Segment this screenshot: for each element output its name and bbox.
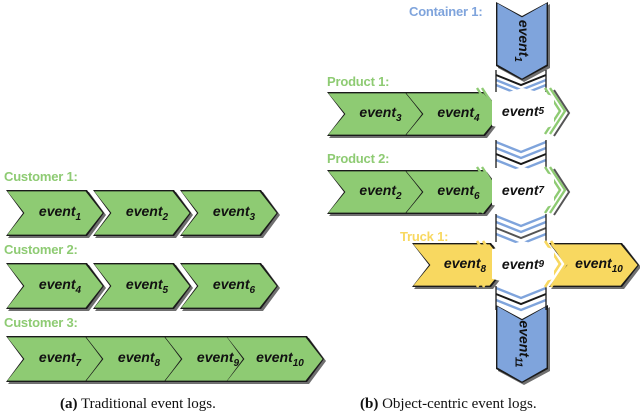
event-label: event5	[492, 88, 554, 134]
event-junction[interactable]: event5	[492, 88, 554, 134]
event-label: event9	[492, 241, 554, 287]
connector-blue-3	[496, 216, 546, 244]
event-junction[interactable]: event7	[492, 167, 554, 213]
event-junction[interactable]: event9	[492, 241, 554, 287]
connector-blue-2	[496, 142, 546, 170]
connector-blue-4	[496, 288, 546, 310]
event-label: event7	[492, 167, 554, 213]
figure-canvas: Customer 1: event1 event2 event3 Custome…	[0, 0, 640, 417]
